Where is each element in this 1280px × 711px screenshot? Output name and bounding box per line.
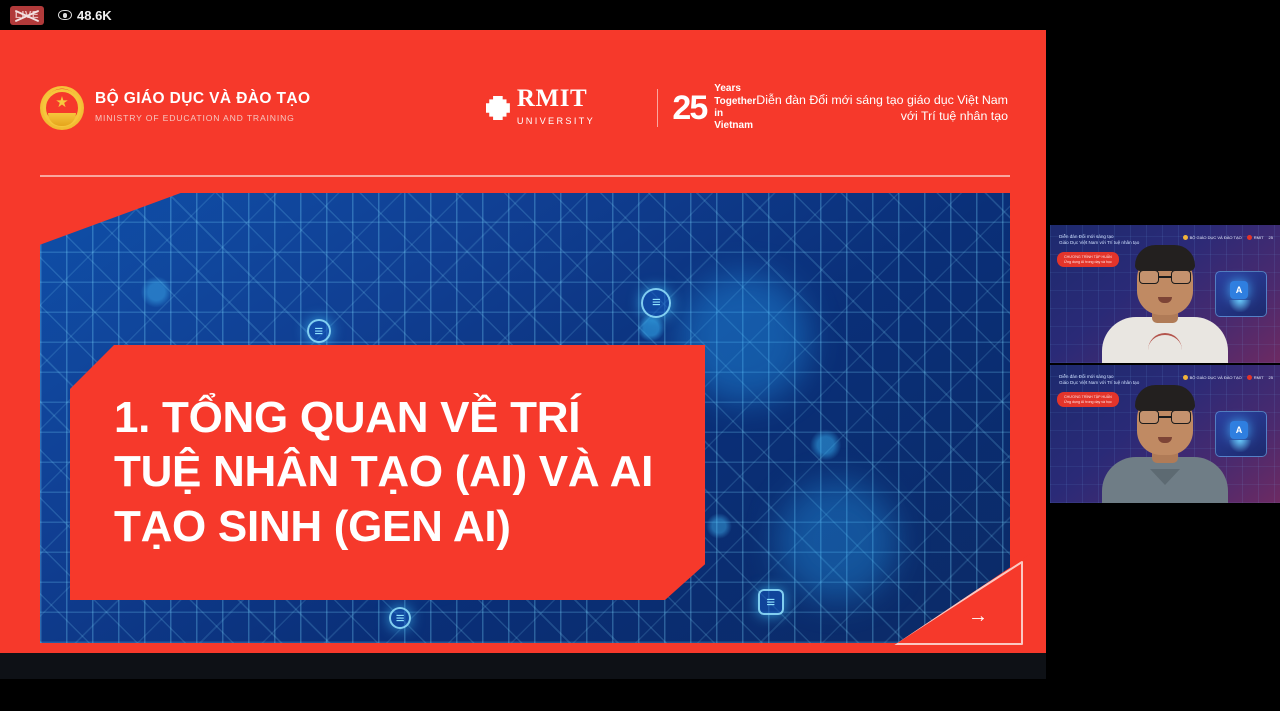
ministry-name-vi: BỘ GIÁO DỤC VÀ ĐÀO TẠO — [95, 90, 310, 107]
eye-icon — [58, 10, 72, 20]
rmit-subtitle: UNIVERSITY — [517, 116, 595, 126]
circuit-chip-4: ≡ — [758, 589, 784, 615]
forum-title-line2: với Trí tuệ nhân tạo — [901, 109, 1008, 123]
chip-glyph: ≡ — [766, 595, 775, 610]
tile-1-background-logos: BỘ GIÁO DỤC VÀ ĐÀO TẠO RMIT 25 — [1183, 235, 1273, 240]
arrow-right-icon: → — [968, 606, 988, 626]
circuit-chip-5: ≡ — [389, 607, 411, 629]
glasses-bridge — [1159, 276, 1171, 278]
rmit-logo-icon — [1247, 375, 1252, 380]
circuit-chip-3: ≡ — [307, 319, 331, 343]
bottom-strip — [0, 653, 1046, 679]
anniversary-line1: Years — [714, 83, 741, 94]
ministry-name-en: MINISTRY OF EDUCATION AND TRAINING — [95, 113, 295, 123]
viewer-count-label: 48.6K — [77, 8, 112, 23]
slide-title: 1. TỔNG QUAN VỀ TRÍ TUỆ NHÂN TẠO (AI) VÀ… — [70, 391, 705, 553]
tile-1-anniv-label: 25 — [1269, 235, 1273, 240]
participant-2-glasses — [1139, 410, 1191, 425]
rmit-name: RMIT — [517, 85, 587, 112]
anniversary-text: Years Together in Vietnam — [714, 83, 756, 133]
anniversary-badge: 25 Years Together in Vietnam — [672, 83, 756, 133]
participant-tile-1[interactable]: Diễn đàn Đổi mới sáng tạo Giáo Dục Việt … — [1050, 225, 1280, 363]
slide-title-card: 1. TỔNG QUAN VỀ TRÍ TUỆ NHÂN TẠO (AI) VÀ… — [70, 345, 705, 600]
tile-1-bg-title-line2: Giáo Dục Việt Nam với Trí tuệ nhân tạo — [1059, 240, 1139, 245]
glasses-lens-right — [1171, 410, 1191, 424]
viewer-count: 48.6K — [58, 8, 112, 23]
tile-2-bg-title-line1: Diễn đàn Đổi mới sáng tạo — [1059, 374, 1114, 379]
anniversary-number: 25 — [672, 93, 706, 123]
tile-1-participant-video — [1050, 259, 1280, 363]
emblem-star: ★ — [55, 95, 68, 110]
vietnam-emblem-icon — [1183, 375, 1188, 380]
anniversary-line3: in Vietnam — [714, 108, 753, 131]
tile-1-rmit-label: RMIT — [1254, 235, 1264, 240]
tile-2-moet-logo: BỘ GIÁO DỤC VÀ ĐÀO TẠO — [1183, 375, 1242, 380]
participant-1-glasses — [1139, 270, 1191, 285]
tile-1-rmit-logo: RMIT — [1247, 235, 1264, 240]
glasses-lens-left — [1139, 270, 1159, 284]
vietnam-emblem-icon — [1183, 235, 1188, 240]
participant-tile-2[interactable]: Diễn đàn Đổi mới sáng tạo Giáo Dục Việt … — [1050, 365, 1280, 503]
header-vertical-divider — [657, 89, 658, 127]
vietnam-emblem-icon: ★ — [40, 86, 84, 130]
circuit-chip-2: ≡ — [641, 288, 671, 318]
top-status-bar: LIVE 48.6K — [0, 0, 1280, 30]
glasses-lens-left — [1139, 410, 1159, 424]
participant-1-lanyard — [1148, 333, 1182, 363]
tile-2-background-title: Diễn đàn Đổi mới sáng tạo Giáo Dục Việt … — [1059, 374, 1139, 387]
header-divider — [40, 175, 1010, 177]
tile-2-pill-line1: CHƯƠNG TRÌNH TẬP HUẤN — [1064, 395, 1112, 399]
chip-glyph: ≡ — [396, 611, 405, 626]
tile-1-background-title: Diễn đàn Đổi mới sáng tạo Giáo Dục Việt … — [1059, 234, 1139, 247]
tile-2-rmit-label: RMIT — [1254, 375, 1264, 380]
chip-glyph: ≡ — [652, 295, 661, 310]
presentation-slide[interactable]: ★ BỘ GIÁO DỤC VÀ ĐÀO TẠO MINISTRY OF EDU… — [0, 30, 1046, 653]
rmit-wordmark: RMIT UNIVERSITY — [517, 87, 643, 129]
tile-1-pill-line1: CHƯƠNG TRÌNH TẬP HUẤN — [1064, 255, 1112, 259]
bottom-letterbox — [0, 653, 1280, 711]
forum-title-line1: Diễn đàn Đổi mới sáng tạo giáo dục Việt … — [756, 93, 1008, 107]
participant-1-hair — [1135, 245, 1195, 271]
glasses-bridge — [1159, 416, 1171, 418]
anniversary-line2: Together — [714, 96, 756, 107]
tile-2-bg-title-line2: Giáo Dục Việt Nam với Trí tuệ nhân tạo — [1059, 380, 1139, 385]
live-muted-icon[interactable]: LIVE — [10, 6, 44, 25]
tile-1-bg-title-line1: Diễn đàn Đổi mới sáng tạo — [1059, 234, 1114, 239]
participant-2-hair — [1135, 385, 1195, 411]
slide-header: ★ BỘ GIÁO DỤC VÀ ĐÀO TẠO MINISTRY OF EDU… — [40, 82, 1008, 134]
video-participant-column: Diễn đàn Đổi mới sáng tạo Giáo Dục Việt … — [1050, 30, 1280, 690]
tile-2-anniv-label: 25 — [1269, 375, 1273, 380]
tile-1-moet-logo: BỘ GIÁO DỤC VÀ ĐÀO TẠO — [1183, 235, 1242, 240]
glasses-lens-right — [1171, 270, 1191, 284]
screen-root: LIVE 48.6K ★ BỘ GIÁO DỤC VÀ ĐÀO TẠO MINI… — [0, 0, 1280, 711]
tile-2-participant-video — [1050, 399, 1280, 503]
chip-glyph: ≡ — [314, 324, 323, 339]
rmit-mark — [486, 96, 510, 120]
rmit-block: RMIT UNIVERSITY 25 Years Together in Vie… — [486, 83, 756, 133]
rmit-logo-icon — [1247, 235, 1252, 240]
ministry-text: BỘ GIÁO DỤC VÀ ĐÀO TẠO MINISTRY OF EDUCA… — [95, 90, 460, 126]
tile-2-rmit-logo: RMIT — [1247, 375, 1264, 380]
ministry-logo: ★ BỘ GIÁO DỤC VÀ ĐÀO TẠO MINISTRY OF EDU… — [40, 86, 460, 130]
rmit-logo-icon: RMIT UNIVERSITY — [486, 87, 643, 129]
tile-2-moet-label: BỘ GIÁO DỤC VÀ ĐÀO TẠO — [1190, 375, 1242, 380]
tile-1-moet-label: BỘ GIÁO DỤC VÀ ĐÀO TẠO — [1190, 235, 1242, 240]
forum-title: Diễn đàn Đổi mới sáng tạo giáo dục Việt … — [756, 92, 1008, 124]
circuit-glow-3 — [777, 481, 897, 601]
tile-2-background-logos: BỘ GIÁO DỤC VÀ ĐÀO TẠO RMIT 25 — [1183, 375, 1273, 380]
